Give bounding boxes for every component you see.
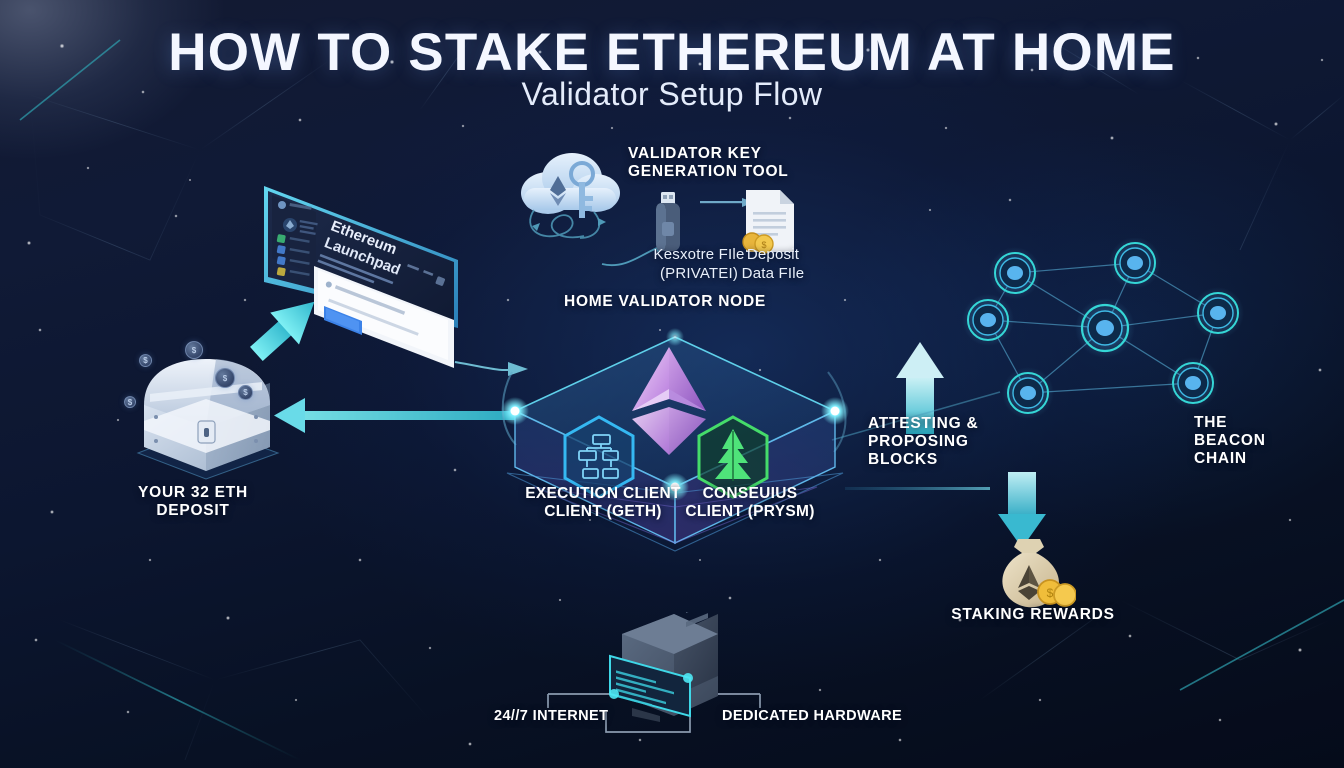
page-subtitle: Validator Setup Flow	[0, 76, 1344, 113]
floating-coin: $	[215, 368, 235, 388]
staking-rewards-label: STAKING REWARDS	[930, 606, 1136, 624]
network-graph-icon	[950, 238, 1270, 418]
deposit-file-label: Deposit Data FIle	[728, 245, 818, 283]
internet-requirement-label: 24//7 INTERNET	[494, 707, 634, 725]
deposit-label: YOUR 32 ETH DEPOSIT	[100, 484, 286, 520]
beacon-chain-label: THE BEACON CHAIN	[1194, 414, 1324, 468]
money-bag-icon: $	[988, 537, 1076, 614]
floating-coin: $	[185, 341, 203, 359]
consensus-client-label: CONSEUIUS CLIENT (Prysm)	[660, 485, 840, 521]
validator-node-label: HOME VALIDATOR NODE	[545, 293, 785, 311]
page-title: HOW TO STAKE ETHEREUM AT HOME	[0, 22, 1344, 83]
floating-coin: $	[124, 396, 136, 408]
keygen-label: VALIDATOR KEY GENERATION TOOL	[628, 145, 858, 181]
attesting-label: ATTESTING & PROPOSING BLOCKS	[868, 415, 1018, 469]
hardware-requirement-label: DEDICATED HARDWARE	[722, 707, 922, 725]
floating-coin: $	[139, 354, 152, 367]
infographic-canvas: HOW TO STAKE ETHEREUM AT HOME Validator …	[0, 0, 1344, 768]
floating-coin: $	[238, 385, 253, 400]
svg-text:$: $	[1047, 586, 1054, 600]
